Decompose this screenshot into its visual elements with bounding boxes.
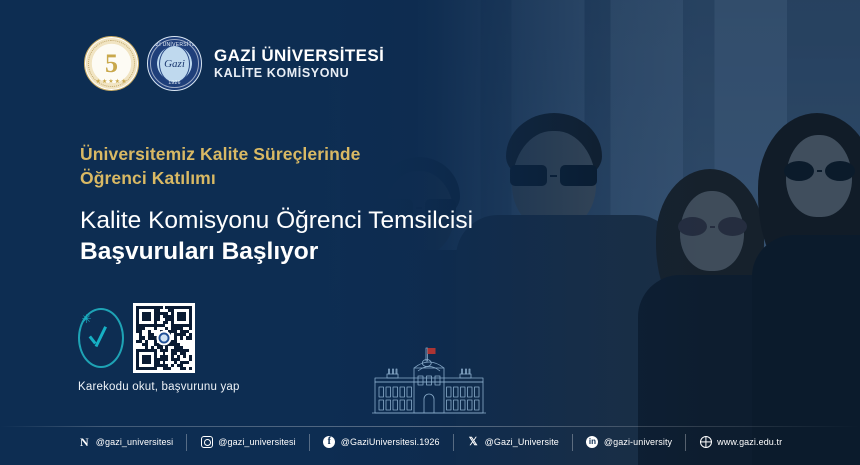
- social-facebook-handle: @GaziUniversitesi.1926: [341, 437, 440, 447]
- newspaper-icon: N: [78, 436, 91, 449]
- promo-banner: 5 ★★★★★ GAZİ ÜNİVERSİTESİ Gazi 1926 GAZİ…: [0, 0, 860, 465]
- qr-caption: Karekodu okut, başvurunu yap: [78, 381, 240, 393]
- gazi-anniversary-seal-icon: 5 ★★★★★: [84, 36, 139, 91]
- facebook-icon: f: [323, 436, 336, 449]
- gazi-university-rectorate-building-icon: [372, 345, 486, 423]
- headline-block: Üniversitemiz Kalite Süreçlerinde Öğrenc…: [80, 143, 473, 268]
- brand-title: GAZİ ÜNİVERSİTESİ: [214, 47, 384, 65]
- social-news-handle: @gazi_universitesi: [96, 437, 173, 447]
- brand-subtitle: KALİTE KOMİSYONU: [214, 67, 384, 80]
- headline-kicker-1: Üniversitemiz Kalite Süreçlerinde: [80, 143, 473, 165]
- brand-lockup: 5 ★★★★★ GAZİ ÜNİVERSİTESİ Gazi 1926 GAZİ…: [84, 36, 384, 91]
- globe-icon: [699, 436, 712, 449]
- qr-center-logo: [157, 331, 172, 346]
- seal-arc-top: GAZİ ÜNİVERSİTESİ: [148, 42, 201, 48]
- social-facebook[interactable]: f@GaziUniversitesi.1926: [310, 434, 454, 451]
- qr-code[interactable]: [133, 303, 195, 373]
- social-news[interactable]: N@gazi_universitesi: [65, 434, 187, 451]
- social-website[interactable]: www.gazi.edu.tr: [686, 434, 795, 451]
- seal-arc-bottom: 1926: [148, 80, 201, 86]
- sparkle-icon: ✳: [81, 314, 92, 325]
- social-instagram-handle: @gazi_universitesi: [218, 437, 295, 447]
- x-twitter-icon: 𝕏: [467, 436, 480, 449]
- qr-call-to-action: ✳ Karekodu okut, başvurunu yap: [78, 303, 240, 393]
- headline-title-2: Başvuruları Başlıyor: [80, 237, 473, 268]
- check-badge-icon: ✳: [78, 308, 124, 368]
- headline-kicker-2: Öğrenci Katılımı: [80, 167, 473, 189]
- social-instagram[interactable]: @gazi_universitesi: [187, 434, 309, 451]
- social-linkedin[interactable]: in@gazi-university: [573, 434, 686, 451]
- social-x[interactable]: 𝕏@Gazi_Universite: [454, 434, 573, 451]
- social-website-handle: www.gazi.edu.tr: [717, 437, 782, 447]
- headline-title-1: Kalite Komisyonu Öğrenci Temsilcisi: [80, 206, 473, 237]
- linkedin-icon: in: [586, 436, 599, 449]
- social-x-handle: @Gazi_Universite: [485, 437, 559, 447]
- seal-stars: ★★★★★: [85, 78, 138, 85]
- social-links-bar: N@gazi_universitesi@gazi_universitesif@G…: [0, 431, 860, 453]
- gazi-university-seal-icon: GAZİ ÜNİVERSİTESİ Gazi 1926: [147, 36, 202, 91]
- footer-divider: [0, 426, 860, 427]
- instagram-icon: [200, 436, 213, 449]
- social-linkedin-handle: @gazi-university: [604, 437, 672, 447]
